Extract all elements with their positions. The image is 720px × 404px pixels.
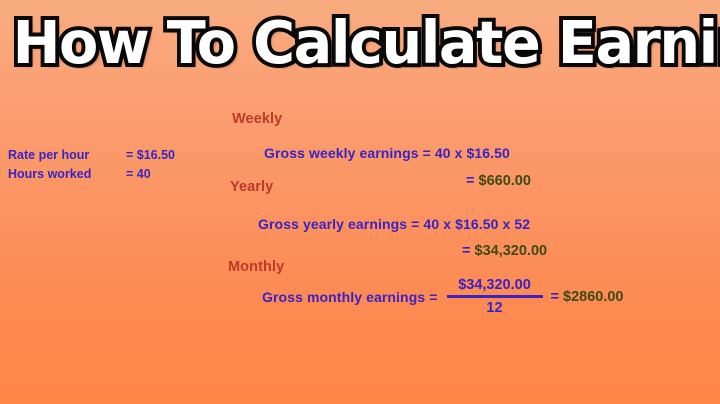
page-title: How To Calculate Earnings [13, 8, 720, 78]
title-bar: How To Calculate Earnings [0, 8, 720, 78]
result-yearly: = $34,320.00 [462, 243, 547, 259]
given-row: Hours worked = 40 [8, 165, 175, 184]
section-heading-weekly: Weekly [232, 111, 282, 127]
fraction-denominator: 12 [486, 299, 502, 318]
result-weekly-equals: = [466, 173, 474, 189]
result-yearly-equals: = [462, 243, 470, 259]
given-value-hours-worked: = 40 [126, 165, 151, 184]
given-values-block: Rate per hour = $16.50 Hours worked = 40 [8, 146, 175, 184]
result-yearly-amount: $34,320.00 [475, 243, 548, 259]
equation-yearly: Gross yearly earnings = 40 x $16.50 x 52 [258, 216, 530, 232]
given-row: Rate per hour = $16.50 [8, 146, 175, 165]
fraction-bar [447, 295, 543, 298]
fraction-numerator: $34,320.00 [456, 276, 533, 294]
fraction-monthly: $34,320.00 12 [447, 276, 543, 318]
given-label-rate-per-hour: Rate per hour [8, 146, 126, 165]
result-weekly: = $660.00 [466, 173, 531, 189]
equation-monthly-label: Gross monthly earnings = [262, 289, 438, 305]
given-value-rate-per-hour: = $16.50 [126, 146, 175, 165]
equation-weekly: Gross weekly earnings = 40 x $16.50 [264, 145, 510, 161]
section-heading-monthly: Monthly [228, 259, 284, 275]
equation-monthly: Gross monthly earnings = $34,320.00 12 =… [262, 276, 623, 318]
given-label-hours-worked: Hours worked [8, 165, 126, 184]
result-monthly: = $2860.00 [551, 289, 624, 305]
result-monthly-amount: $2860.00 [563, 289, 623, 305]
result-weekly-amount: $660.00 [479, 173, 531, 189]
slide-canvas: How To Calculate Earnings Rate per hour … [0, 0, 720, 404]
result-monthly-equals: = [551, 289, 559, 305]
section-heading-yearly: Yearly [230, 179, 273, 195]
